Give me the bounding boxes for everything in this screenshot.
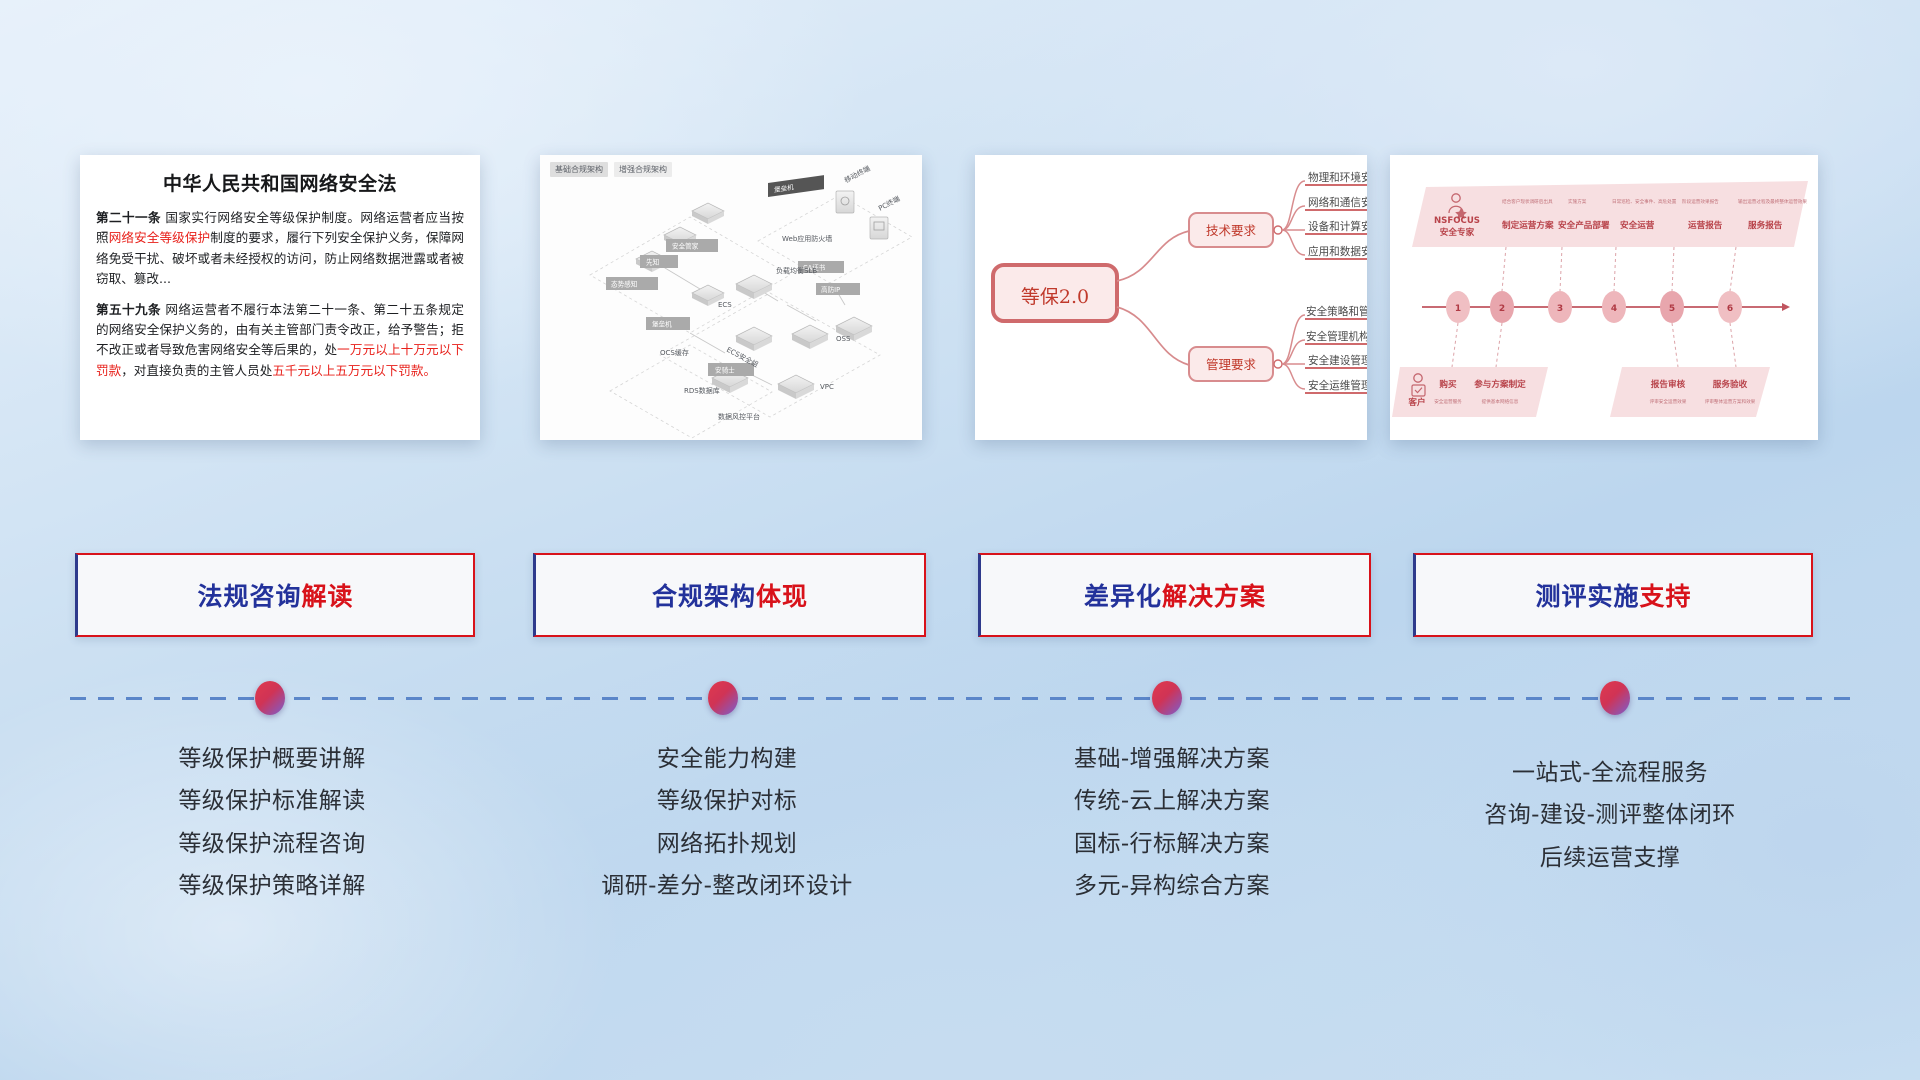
svg-text:OSS: OSS [836,335,851,343]
bullets-column-2: 安全能力构建 等级保护对标 网络拓扑规划 调研-差分-整改闭环设计 [517,738,937,907]
card-compliance-architecture[interactable]: 基础合规架构 增强合规架构 [540,155,922,440]
timeline-arrow-icon [1782,303,1790,311]
bullet-3-3: 国标-行标解决方案 [962,823,1382,865]
header-box-compliance-architecture[interactable]: 合规架构体现 [533,553,926,637]
svg-text:RDS数据库: RDS数据库 [684,386,720,395]
bullet-3-4: 多元-异构综合方案 [962,865,1382,907]
architecture-svg: 堡垒机 安全管家 先知 态势感知 堡垒机 安骑士 CA证书 高防IP ECS 负… [540,155,922,440]
card-mindmap-dengbao[interactable]: 等保2.0 技术要求 [975,155,1367,440]
rail-dot-3[interactable] [1152,681,1182,715]
svg-text:实施方案: 实施方案 [1568,198,1587,205]
rail-dot-2[interactable] [708,681,738,715]
header-4-part-b: 支持 [1640,582,1692,611]
mindmap-branch-label-technical: 技术要求 [1206,223,1257,238]
svg-text:Web应用防火墙: Web应用防火墙 [782,234,832,243]
svg-text:评审安全运营效果: 评审安全运营效果 [1650,398,1687,405]
bullet-1-3: 等级保护流程咨询 [62,823,482,865]
law-document: 中华人民共和国网络安全法 第二十一条 国家实行网络安全等级保护制度。网络运营者应… [80,155,480,440]
svg-text:VPC: VPC [820,383,834,391]
svg-text:高防IP: 高防IP [821,285,840,294]
header-box-differentiated-solution[interactable]: 差异化解决方案 [978,553,1371,637]
svg-text:PC终端: PC终端 [877,194,902,213]
mindmap-leaf-tech-1: 物理和环境安全 [1308,171,1367,184]
timeline-diagram: NSFOCUS 安全专家 结合客户现状调研后出具 制定运营方案 实施方案 安全产… [1390,155,1818,440]
card-cybersecurity-law[interactable]: 中华人民共和国网络安全法 第二十一条 国家实行网络安全等级保护制度。网络运营者应… [80,155,480,440]
law-article-59-text-b: ，对直接负责的主管人员处 [121,363,272,378]
bullet-4-2: 咨询-建设-测评整体闭环 [1400,794,1820,836]
timeline-expert-line2: 安全专家 [1440,226,1475,238]
rail-dot-1[interactable] [255,681,285,715]
svg-text:日常巡检、安全事件、高危处置: 日常巡检、安全事件、高危处置 [1612,198,1677,205]
mindmap-root-label: 等保2.0 [1021,286,1089,308]
mindmap-branch-label-management: 管理要求 [1206,357,1257,372]
bullet-2-1: 安全能力构建 [517,738,937,780]
svg-text:5: 5 [1669,304,1675,314]
svg-text:先知: 先知 [646,258,659,267]
svg-text:输出运营过程及最终整体运营效果: 输出运营过程及最终整体运营效果 [1738,198,1807,205]
svg-text:安全运营: 安全运营 [1620,219,1655,231]
svg-text:制定运营方案: 制定运营方案 [1502,219,1554,231]
svg-text:购买: 购买 [1439,378,1457,390]
header-box-regulation-consulting[interactable]: 法规咨询解读 [75,553,475,637]
bullet-1-2: 等级保护标准解读 [62,780,482,822]
top-cards-row: 中华人民共和国网络安全法 第二十一条 国家实行网络安全等级保护制度。网络运营者应… [0,0,1920,460]
mindmap-root-node: 等保2.0 [993,265,1117,321]
header-box-evaluation-support[interactable]: 测评实施支持 [1413,553,1813,637]
svg-text:参与方案制定: 参与方案制定 [1474,378,1526,390]
svg-text:负载均衡SLB: 负载均衡SLB [776,266,817,275]
bullet-1-4: 等级保护策略详解 [62,865,482,907]
header-1-part-b: 解读 [302,582,354,611]
timeline-svg: NSFOCUS 安全专家 结合客户现状调研后出具 制定运营方案 实施方案 安全产… [1390,155,1818,440]
bullet-3-1: 基础-增强解决方案 [962,738,1382,780]
svg-text:安骑士: 安骑士 [715,366,735,375]
svg-text:服务报告: 服务报告 [1748,219,1783,231]
svg-text:堡垒机: 堡垒机 [652,320,672,329]
svg-text:1: 1 [1455,304,1461,314]
bullet-4-3: 后续运营支撑 [1400,837,1820,879]
mindmap-leaf-mgmt-3: 安全建设管理 [1308,354,1367,367]
mindmap-branch-technical: 技术要求 物理和环境安全 网络和通信安全 [1189,171,1367,259]
svg-text:结合客户现状调研后出具: 结合客户现状调研后出具 [1502,198,1553,205]
mindmap-leaf-mgmt-2: 安全管理机构和人员 [1306,330,1367,343]
bullet-2-4: 调研-差分-整改闭环设计 [517,865,937,907]
svg-text:提供基本网络信息: 提供基本网络信息 [1482,398,1519,405]
header-2-part-a: 合规架构 [652,582,756,611]
svg-text:数据风控平台: 数据风控平台 [718,412,760,421]
bullet-1-1: 等级保护概要讲解 [62,738,482,780]
rail-dot-4[interactable] [1600,681,1630,715]
svg-text:评审整体运营方案和效果: 评审整体运营方案和效果 [1705,398,1756,405]
header-3-part-a: 差异化 [1084,582,1162,611]
svg-text:安全管家: 安全管家 [672,242,699,251]
timeline-bottom-band-right [1610,367,1770,417]
svg-text:3: 3 [1557,304,1563,314]
law-article-59-label: 第五十九条 [96,302,161,317]
mindmap-diagram: 等保2.0 技术要求 [975,155,1367,440]
mindmap-branch-management: 管理要求 安全策略和管理制度 安全管理机构 [1189,305,1367,393]
bullet-4-1: 一站式-全流程服务 [1400,752,1820,794]
svg-text:2: 2 [1499,304,1505,314]
svg-text:ECS: ECS [718,301,732,309]
timeline-customer-label: 客户 [1407,396,1425,408]
card-service-timeline[interactable]: NSFOCUS 安全专家 结合客户现状调研后出具 制定运营方案 实施方案 安全产… [1390,155,1818,440]
mindmap-leaf-tech-2: 网络和通信安全 [1308,196,1367,209]
header-3-part-b: 解决方案 [1162,582,1266,611]
mindmap-leaf-mgmt-1: 安全策略和管理制度 [1306,305,1367,318]
mindmap-svg: 等保2.0 技术要求 [975,155,1367,440]
header-2-part-b: 体现 [756,582,808,611]
law-article-59-highlight-2: 五千元以上五万元以下罚款。 [272,363,436,378]
svg-text:移动终端: 移动终端 [843,164,872,185]
svg-text:运营报告: 运营报告 [1688,219,1723,231]
svg-text:6: 6 [1727,304,1733,314]
header-1-part-a: 法规咨询 [197,582,301,611]
bullet-2-2: 等级保护对标 [517,780,937,822]
bullet-3-2: 传统-云上解决方案 [962,780,1382,822]
mindmap-leaf-tech-3: 设备和计算安全 [1308,220,1367,233]
bullet-2-3: 网络拓扑规划 [517,823,937,865]
svg-text:4: 4 [1611,304,1617,314]
mindmap-leaf-tech-4: 应用和数据安全 [1308,245,1367,258]
law-article-21-highlight: 网络安全等级保护 [109,230,211,245]
svg-text:阶段运营效果报告: 阶段运营效果报告 [1682,198,1719,205]
svg-text:安全产品部署: 安全产品部署 [1558,219,1610,231]
law-article-21-label: 第二十一条 [96,210,161,225]
svg-text:报告审核: 报告审核 [1651,378,1686,390]
header-4-part-a: 测评实施 [1535,582,1639,611]
timeline-expert-line1: NSFOCUS [1434,216,1480,226]
timeline-rail [70,697,1850,700]
svg-text:态势感知: 态势感知 [611,280,637,289]
law-title: 中华人民共和国网络安全法 [96,169,464,196]
svg-text:安全运营服务: 安全运营服务 [1434,398,1462,405]
bullets-column-4: 一站式-全流程服务 咨询-建设-测评整体闭环 后续运营支撑 [1400,752,1820,879]
law-article-59: 第五十九条 网络运营者不履行本法第二十一条、第二十五条规定的网络安全保护义务的，… [96,300,464,382]
mindmap-leaf-mgmt-4: 安全运维管理 [1308,379,1367,392]
bullets-column-3: 基础-增强解决方案 传统-云上解决方案 国标-行标解决方案 多元-异构综合方案 [962,738,1382,907]
svg-text:OCS缓存: OCS缓存 [660,348,689,357]
law-article-21: 第二十一条 国家实行网络安全等级保护制度。网络运营者应当按照网络安全等级保护制度… [96,208,464,290]
svg-text:服务验收: 服务验收 [1713,378,1748,390]
bullets-column-1: 等级保护概要讲解 等级保护标准解读 等级保护流程咨询 等级保护策略详解 [62,738,482,907]
architecture-diagram: 基础合规架构 增强合规架构 [540,155,922,440]
